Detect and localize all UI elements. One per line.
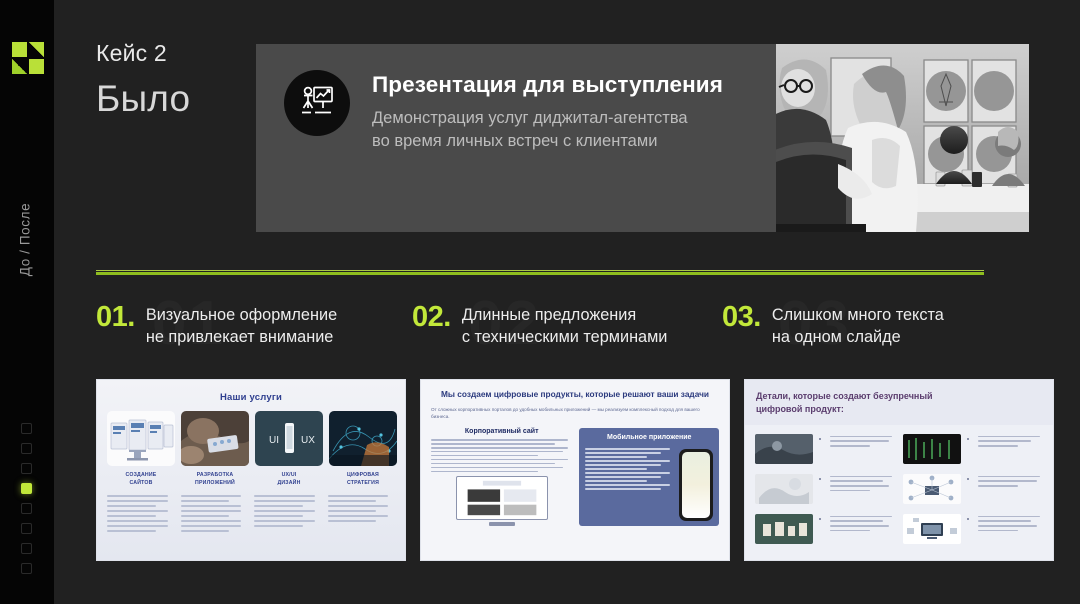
thumb1-bullet-columns xyxy=(97,488,405,535)
detail-row xyxy=(903,514,1043,544)
issue-text-2: Длинные предложения с техническими терми… xyxy=(462,302,668,348)
service-caption: СОЗДАНИЕ САЙТОВ xyxy=(107,472,175,488)
cap-l2: ДИЗАЙН xyxy=(277,480,300,486)
service-image-websites xyxy=(107,411,175,466)
issue-3-line-1: Слишком много текста xyxy=(772,306,944,324)
thumb3-header-band: Детали, которые создают безупречный цифр… xyxy=(745,380,1053,425)
desktop-mockup-icon xyxy=(456,476,548,526)
service-card: РАЗРАБОТКА ПРИЛОЖЕНИЙ xyxy=(181,411,249,488)
thumb3-title-line-2: цифровой продукт: xyxy=(756,404,844,414)
service-caption: ЦИФРОВАЯ СТРАТЕГИЯ xyxy=(329,472,397,488)
thumb2-left-heading: Корпоративный сайт xyxy=(431,428,572,435)
detail-row xyxy=(755,434,895,464)
thumb3-column-right xyxy=(903,434,1043,544)
pagination-dot[interactable] xyxy=(21,563,32,574)
left-rail: До / После xyxy=(0,0,54,604)
presenter-chart-icon xyxy=(284,70,350,136)
slide-thumbnails: Наши услуги xyxy=(96,379,1054,561)
cap-l1: ЦИФРОВАЯ xyxy=(347,472,379,478)
header-card-title: Презентация для выступления xyxy=(372,72,723,98)
svg-text:UI: UI xyxy=(269,435,279,446)
service-image-apps xyxy=(181,411,249,466)
service-caption: РАЗРАБОТКА ПРИЛОЖЕНИЙ xyxy=(181,472,249,488)
detail-photo xyxy=(755,474,813,504)
bullet-column xyxy=(328,495,396,535)
thumbnail-digital-products[interactable]: Мы создаем цифровые продукты, которые ре… xyxy=(420,379,730,561)
issue-3-line-2: на одном слайде xyxy=(772,328,901,346)
service-card: СОЗДАНИЕ САЙТОВ xyxy=(107,411,175,488)
issue-number-1: 01. xyxy=(96,302,135,332)
thumb2-right-column: Мобильное приложение xyxy=(579,428,719,526)
issue-item-2: 02 02. Длинные предложения с техническим… xyxy=(412,302,722,348)
thumb3-title-line-1: Детали, которые создают безупречный xyxy=(756,391,933,401)
pagination-dot[interactable] xyxy=(21,443,32,454)
pagination-dot[interactable] xyxy=(21,463,32,474)
detail-row xyxy=(755,474,895,504)
detail-row xyxy=(903,434,1043,464)
pagination-dot-active[interactable] xyxy=(21,483,32,494)
rail-vertical-label: До / После xyxy=(18,190,33,290)
header-card-subtitle: Демонстрация услуг диджитал-агентства во… xyxy=(372,107,723,153)
issue-1-line-2: не привлекает внимание xyxy=(146,328,334,346)
detail-row xyxy=(755,514,895,544)
service-card: ЦИФРОВАЯ СТРАТЕГИЯ xyxy=(329,411,397,488)
thumb3-grid xyxy=(745,425,1053,553)
issue-number-2: 02. xyxy=(412,302,451,332)
detail-photo xyxy=(755,434,813,464)
brand-logo-icon xyxy=(12,42,44,74)
cap-l1: РАЗРАБОТКА xyxy=(197,472,234,478)
issue-item-1: 01 01. Визуальное оформление не привлека… xyxy=(96,302,412,348)
issue-text-3: Слишком много текста на одном слайде xyxy=(772,302,944,348)
service-card: UI UX UX/UI ДИЗАЙН xyxy=(255,411,323,488)
presentation-slide: До / После Кейс 2 Было xyxy=(0,0,1080,604)
subtitle-line-1: Демонстрация услуг диджитал-агентства xyxy=(372,109,688,127)
svg-text:UX: UX xyxy=(301,435,315,446)
thumbnail-our-services[interactable]: Наши услуги xyxy=(96,379,406,561)
thumbnail-details[interactable]: Детали, которые создают безупречный цифр… xyxy=(744,379,1054,561)
cap-l1: UX/UI xyxy=(282,472,297,478)
page-title: Было xyxy=(96,78,190,120)
service-caption: UX/UI ДИЗАЙН xyxy=(255,472,323,488)
pagination-dots[interactable] xyxy=(21,423,32,574)
pagination-dot[interactable] xyxy=(21,523,32,534)
issue-number-3: 03. xyxy=(722,302,761,332)
thumb2-subtitle: От сложных корпоративных порталов до удо… xyxy=(431,406,719,421)
thumb2-left-column: Корпоративный сайт xyxy=(431,428,572,526)
thumb1-title: Наши услуги xyxy=(97,380,405,403)
detail-photo xyxy=(903,514,961,544)
detail-row xyxy=(903,474,1043,504)
pagination-dot[interactable] xyxy=(21,503,32,514)
issue-2-line-2: с техническими терминами xyxy=(462,328,668,346)
detail-photo xyxy=(903,474,961,504)
thumb3-title: Детали, которые создают безупречный цифр… xyxy=(756,390,1042,416)
header-card: Презентация для выступления Демонстрация… xyxy=(256,44,776,232)
section-divider xyxy=(96,272,984,275)
service-image-strategy xyxy=(329,411,397,466)
pagination-dot[interactable] xyxy=(21,423,32,434)
phone-mockup-icon xyxy=(679,449,713,521)
thumb2-right-heading: Мобильное приложение xyxy=(585,434,713,441)
office-team-meeting-photo xyxy=(776,44,1029,232)
detail-photo xyxy=(755,514,813,544)
bullet-column xyxy=(254,495,322,535)
issue-1-line-1: Визуальное оформление xyxy=(146,306,337,324)
pagination-dot[interactable] xyxy=(21,543,32,554)
issues-list: 01 01. Визуальное оформление не привлека… xyxy=(96,302,1016,348)
thumb3-column-left xyxy=(755,434,895,544)
bullet-column xyxy=(181,495,249,535)
detail-photo xyxy=(903,434,961,464)
issue-item-3: 03 03. Слишком много текста на одном сла… xyxy=(722,302,1016,348)
cap-l2: САЙТОВ xyxy=(129,480,152,486)
cap-l2: СТРАТЕГИЯ xyxy=(347,480,379,486)
thumb2-title: Мы создаем цифровые продукты, которые ре… xyxy=(431,389,719,400)
case-kicker: Кейс 2 xyxy=(96,40,167,67)
cap-l1: СОЗДАНИЕ xyxy=(126,472,157,478)
cap-l2: ПРИЛОЖЕНИЙ xyxy=(195,480,235,486)
bullet-column xyxy=(107,495,175,535)
subtitle-line-2: во время личных встреч с клиентами xyxy=(372,132,657,150)
issue-text-1: Визуальное оформление не привлекает вним… xyxy=(146,302,337,348)
issue-2-line-1: Длинные предложения xyxy=(462,306,636,324)
service-image-uxui: UI UX xyxy=(255,411,323,466)
